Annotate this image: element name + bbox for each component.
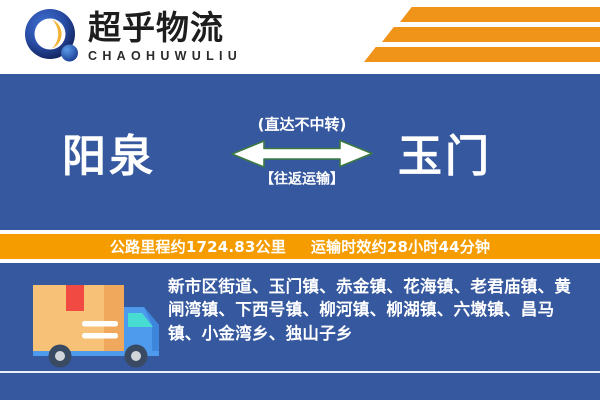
bottom-divider xyxy=(0,371,600,373)
stripe-2 xyxy=(382,27,600,42)
route-info-bar: 公路里程约1724.83公里 运输时效约28小时44分钟 xyxy=(0,232,600,261)
round-trip-note: 【往返运输】 xyxy=(228,173,376,187)
route-banner: 阳泉 (直达不中转) 【往返运输】 玉门 xyxy=(0,74,600,230)
circle-crescent-logo-icon xyxy=(22,6,84,68)
brand-name-cn: 超乎物流 xyxy=(88,11,242,46)
distance-value: 公路里程约1724.83公里 xyxy=(110,238,286,256)
destination-city: 玉门 xyxy=(398,120,492,184)
brand-logo: 超乎物流 CHAOHUWULIU xyxy=(22,6,242,68)
direct-route-note: (直达不中转) xyxy=(228,118,376,133)
route-middle-group: (直达不中转) 【往返运输】 xyxy=(228,118,376,187)
duration-value: 运输时效约28小时44分钟 xyxy=(311,238,490,256)
origin-city: 阳泉 xyxy=(62,120,156,184)
bidirectional-arrow-icon xyxy=(228,136,376,168)
coverage-area-list: 新市区街道、玉门镇、赤金镇、花海镇、老君庙镇、黄闸湾镇、下西号镇、柳河镇、柳湖镇… xyxy=(168,275,586,345)
poster-header: 超乎物流 CHAOHUWULIU xyxy=(0,0,600,74)
delivery-truck-icon xyxy=(26,277,166,369)
brand-text: 超乎物流 CHAOHUWULIU xyxy=(88,11,242,63)
orange-chevron-stripes-icon xyxy=(330,7,600,67)
brand-name-en: CHAOHUWULIU xyxy=(88,49,242,63)
logistics-route-poster: 超乎物流 CHAOHUWULIU 阳泉 (直达不中转) 【往返运输】 玉门 xyxy=(0,0,600,400)
stripe-3 xyxy=(364,47,600,62)
stripe-1 xyxy=(400,7,600,22)
route-info-text: 公路里程约1724.83公里 运输时效约28小时44分钟 xyxy=(110,236,490,257)
coverage-section: 新市区街道、玉门镇、赤金镇、花海镇、老君庙镇、黄闸湾镇、下西号镇、柳河镇、柳湖镇… xyxy=(0,263,600,400)
